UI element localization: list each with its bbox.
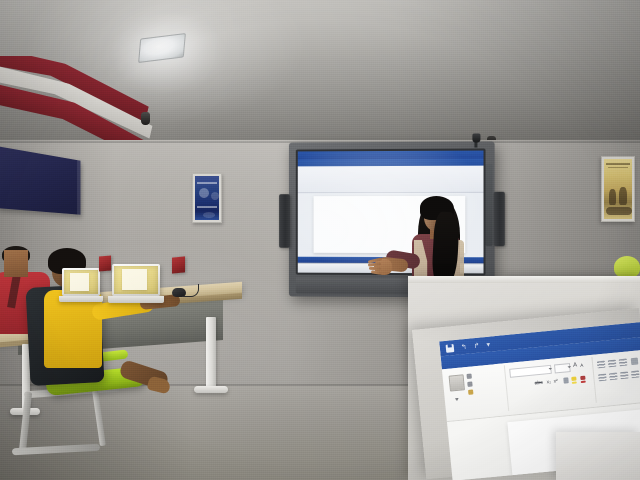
student-laptop-right[interactable] xyxy=(62,268,103,302)
font-color-icon[interactable] xyxy=(580,376,585,380)
student-laptop-right-screen[interactable] xyxy=(64,270,98,294)
sign-text-block-left xyxy=(1,157,30,162)
center-icon[interactable] xyxy=(609,373,618,381)
format-painter-icon[interactable] xyxy=(468,389,473,394)
foreground-white-surface xyxy=(556,432,640,480)
text-highlight-color-icon[interactable] xyxy=(571,376,576,380)
projected-ribbon[interactable] xyxy=(298,166,484,194)
student-head xyxy=(4,250,28,277)
sign-text-block-mid xyxy=(1,181,31,185)
tent-card-text xyxy=(173,259,184,260)
desk-leg-right xyxy=(206,317,216,389)
justify-icon[interactable] xyxy=(631,370,640,378)
ribbon-group-paragraph[interactable] xyxy=(591,351,640,403)
align-right-icon[interactable] xyxy=(620,371,629,379)
redo-icon[interactable]: ↱ xyxy=(473,341,480,350)
align-left-icon[interactable] xyxy=(598,374,607,382)
clipboard-group-label xyxy=(446,410,508,416)
classroom-photo: ↰ ↱ ▾ xyxy=(0,0,640,480)
ribbon-group-font[interactable]: A A abc x₂ x² xyxy=(504,357,597,411)
font-color-bar[interactable] xyxy=(581,381,586,383)
laptop-document xyxy=(122,269,147,290)
font-size-box[interactable] xyxy=(554,363,571,373)
ribbon-group-clipboard[interactable] xyxy=(442,365,509,417)
paste-dropdown-icon[interactable] xyxy=(455,398,459,401)
font-name-dropdown-icon[interactable] xyxy=(548,368,552,370)
laptop-document xyxy=(70,273,89,291)
yellow-framed-poster xyxy=(601,156,635,222)
strikethrough-icon[interactable]: abc xyxy=(534,380,543,387)
desk-foot-right xyxy=(194,386,228,393)
subscript-icon[interactable]: x₂ xyxy=(546,379,551,385)
shrink-font-icon[interactable]: A xyxy=(580,363,584,368)
projected-titlebar xyxy=(298,151,484,160)
tent-card-text xyxy=(100,258,110,259)
red-tent-card-left xyxy=(99,255,111,271)
copy-icon[interactable] xyxy=(467,381,472,386)
bullets-icon[interactable] xyxy=(597,361,606,369)
blue-framed-poster xyxy=(192,173,222,223)
red-and-white-draped-banner xyxy=(0,56,162,152)
undo-icon[interactable]: ↰ xyxy=(460,342,467,351)
customize-icon[interactable]: ▾ xyxy=(486,340,490,348)
font-size-dropdown-icon[interactable] xyxy=(567,366,571,368)
text-effects-icon[interactable] xyxy=(563,377,569,383)
whiteboard-speaker-left xyxy=(279,194,290,248)
desk-partition-top-edge xyxy=(408,276,640,283)
superscript-icon[interactable]: x² xyxy=(553,378,558,384)
red-tent-card-right xyxy=(172,256,185,273)
grow-font-icon[interactable]: A xyxy=(573,362,578,368)
save-icon[interactable] xyxy=(446,344,455,353)
whiteboard-button-column[interactable] xyxy=(486,164,493,247)
font-name-box[interactable] xyxy=(509,365,552,378)
multilevel-list-icon[interactable] xyxy=(619,359,628,367)
paragraph-group-label xyxy=(596,396,640,402)
whiteboard-speaker-right xyxy=(494,192,505,246)
paste-icon[interactable] xyxy=(449,374,465,391)
student-laptop-left-screen[interactable] xyxy=(114,266,158,294)
cut-icon[interactable] xyxy=(466,374,471,379)
numbering-icon[interactable] xyxy=(608,360,617,368)
short-throw-projector-camera xyxy=(472,133,480,142)
student-laptop-left[interactable] xyxy=(112,264,164,303)
decrease-indent-icon[interactable] xyxy=(631,357,639,365)
ceiling-sensor xyxy=(141,112,150,125)
text-highlight-bar[interactable] xyxy=(572,381,577,383)
green-object xyxy=(614,256,640,278)
student-laptop-left-base[interactable] xyxy=(108,296,164,303)
sign-text-block-right-top xyxy=(49,163,77,167)
sign-text-block-right-bottom xyxy=(49,186,77,189)
student-laptop-right-base[interactable] xyxy=(59,296,103,302)
